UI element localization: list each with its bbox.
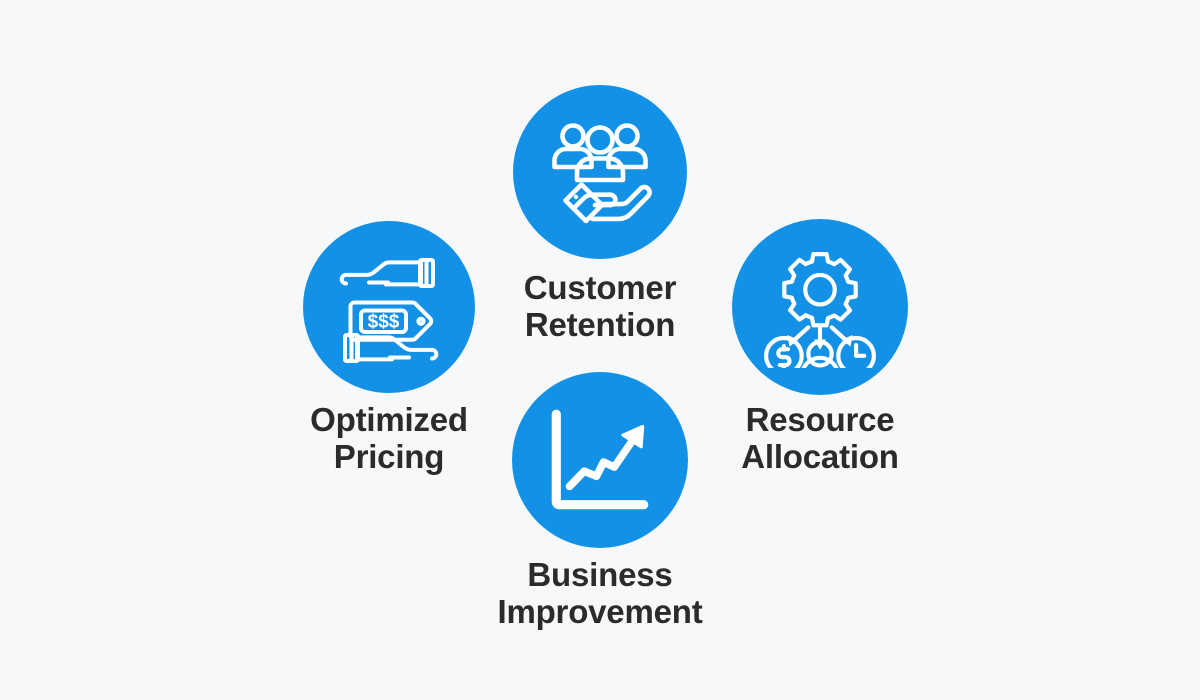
- business-improvement-circle[interactable]: [512, 372, 688, 548]
- price-tag-in-hands-icon: $$$: [329, 247, 449, 367]
- growth-chart-icon: [539, 399, 661, 521]
- gear-distribution-icon: [759, 246, 881, 368]
- diagram-canvas: Customer Retention: [0, 0, 1200, 700]
- resource-allocation-circle[interactable]: [732, 219, 908, 395]
- optimized-pricing-label: Optimized Pricing: [219, 402, 559, 476]
- price-tag-amount: $$$: [368, 312, 400, 333]
- customer-retention-label: Customer Retention: [430, 270, 770, 344]
- people-in-hand-icon: [540, 112, 660, 232]
- customer-retention-circle[interactable]: [513, 85, 687, 259]
- business-improvement-label: Business Improvement: [430, 557, 770, 631]
- optimized-pricing-circle[interactable]: $$$: [303, 221, 475, 393]
- chart-axes: [556, 414, 643, 504]
- resource-allocation-label: Resource Allocation: [650, 402, 990, 476]
- chart-trend-line: [570, 435, 637, 487]
